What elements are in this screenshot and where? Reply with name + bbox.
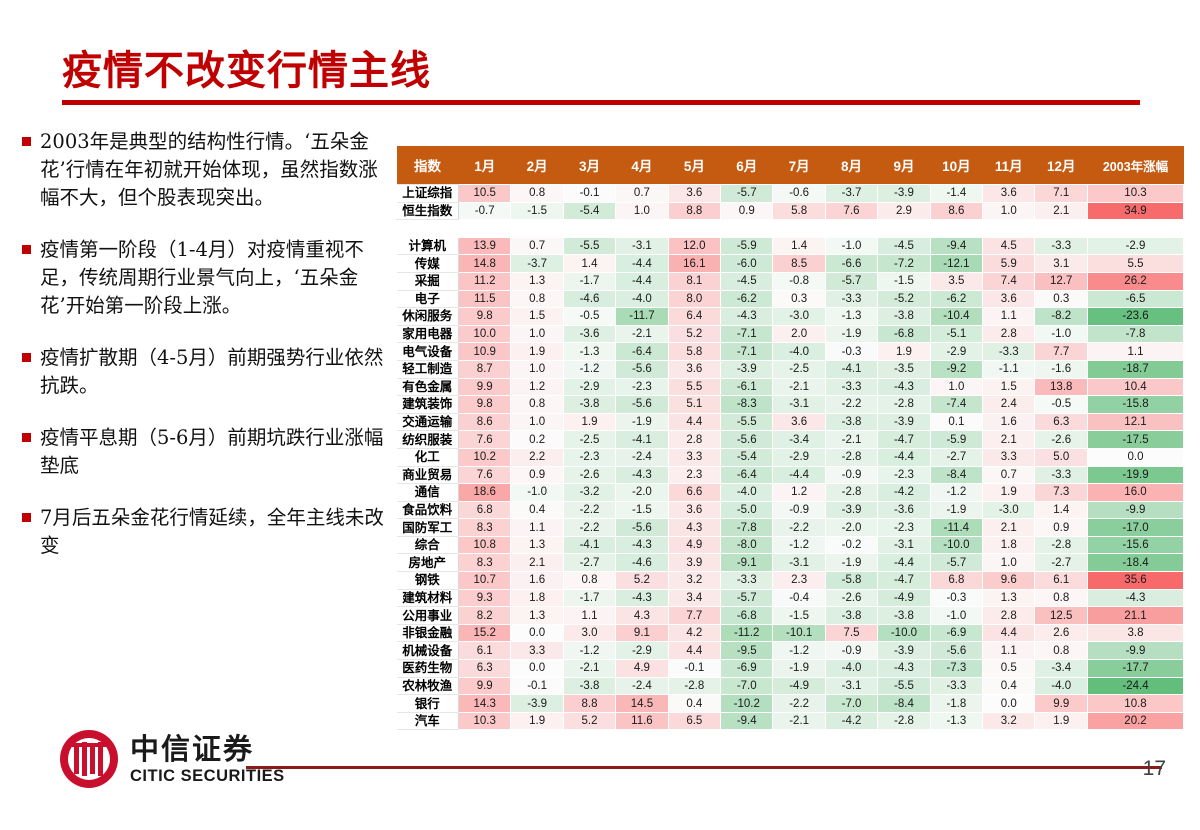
- bullet-text: 2003年是典型的结构性行情。‘五朵金花’行情在年初就开始体现，虽然指数涨幅不大…: [40, 128, 390, 212]
- data-cell: -3.9: [721, 360, 773, 378]
- row-label: 电子: [397, 290, 459, 308]
- data-cell: 8.6: [459, 413, 511, 431]
- data-cell: 6.1: [459, 642, 511, 660]
- data-cell: -3.3: [1035, 237, 1088, 255]
- data-cell: 0.9: [511, 466, 563, 484]
- data-cell: 2.3: [668, 466, 720, 484]
- row-label: 休闲服务: [397, 308, 459, 326]
- data-cell: 1.3: [983, 589, 1035, 607]
- row-label: 农林牧渔: [397, 677, 459, 695]
- data-cell: -4.4: [616, 255, 668, 273]
- data-cell: -3.6: [878, 501, 930, 519]
- data-cell: -1.0: [511, 484, 563, 502]
- column-header-4: 4月: [616, 146, 668, 185]
- row-label: 有色金属: [397, 378, 459, 396]
- data-cell: 1.6: [983, 413, 1035, 431]
- table-row: 商业贸易7.60.9-2.6-4.32.3-6.4-4.4-0.9-2.3-8.…: [397, 466, 1184, 484]
- data-cell: 8.8: [563, 695, 615, 713]
- data-cell: -5.5: [878, 677, 930, 695]
- data-cell: -4.3: [616, 466, 668, 484]
- data-cell: -1.0: [825, 237, 877, 255]
- data-cell: 11.2: [459, 272, 511, 290]
- data-cell: -0.3: [930, 589, 982, 607]
- table-row: 建筑装饰9.80.8-3.8-5.65.1-8.3-3.1-2.2-2.8-7.…: [397, 396, 1184, 414]
- row-label: 计算机: [397, 237, 459, 255]
- table-row: 非银金融15.20.03.09.14.2-11.2-10.17.5-10.0-6…: [397, 624, 1184, 642]
- table-row: 公用事业8.21.31.14.37.7-6.8-1.5-3.8-3.8-1.02…: [397, 607, 1184, 625]
- data-cell: -5.4: [721, 448, 773, 466]
- data-cell: 7.6: [825, 202, 877, 220]
- data-cell: 14.3: [459, 695, 511, 713]
- data-cell: -2.2: [773, 519, 825, 537]
- table-row: 轻工制造8.71.0-1.2-5.63.6-3.9-2.5-4.1-3.5-9.…: [397, 360, 1184, 378]
- data-cell: 1.2: [511, 378, 563, 396]
- column-header-10: 10月: [930, 146, 982, 185]
- data-cell: 1.9: [1035, 712, 1088, 730]
- table-row: 农林牧渔9.9-0.1-3.8-2.4-2.8-7.0-4.9-3.1-5.5-…: [397, 677, 1184, 695]
- data-cell: 9.9: [1035, 695, 1088, 713]
- data-cell: 8.5: [773, 255, 825, 273]
- data-cell: 1.9: [511, 343, 563, 361]
- data-cell: -2.4: [616, 448, 668, 466]
- data-cell: -9.2: [930, 360, 982, 378]
- data-cell: 12.0: [668, 237, 720, 255]
- data-cell: 8.1: [668, 272, 720, 290]
- data-cell: -3.3: [930, 677, 982, 695]
- data-cell: 9.9: [459, 677, 511, 695]
- data-cell: -4.2: [825, 712, 877, 730]
- data-cell: 3.6: [983, 290, 1035, 308]
- bullet-item: 疫情平息期（5-6月）前期坑跌行业涨幅垫底: [22, 424, 390, 480]
- data-cell: 1.8: [511, 589, 563, 607]
- data-cell: 9.8: [459, 396, 511, 414]
- row-label: 国防军工: [397, 519, 459, 537]
- table-row: 钢铁10.71.60.85.23.2-3.32.3-5.8-4.76.89.66…: [397, 572, 1184, 590]
- data-cell: -4.2: [878, 484, 930, 502]
- data-cell: -17.0: [1088, 519, 1184, 537]
- industry-monthly-return-table: 指数1月2月3月4月5月6月7月8月9月10月11月12月2003年涨幅 上证综…: [396, 146, 1184, 730]
- data-cell: 2.8: [668, 431, 720, 449]
- page-title: 疫情不改变行情主线: [62, 38, 431, 96]
- table-row: 汽车10.31.95.211.66.5-9.4-2.1-4.2-2.8-1.33…: [397, 712, 1184, 730]
- data-cell: -4.3: [616, 589, 668, 607]
- data-cell: 0.3: [773, 290, 825, 308]
- bullet-item: 2003年是典型的结构性行情。‘五朵金花’行情在年初就开始体现，虽然指数涨幅不大…: [22, 128, 390, 212]
- data-cell: -1.0: [930, 607, 982, 625]
- data-cell: 8.6: [930, 202, 982, 220]
- data-cell: -3.4: [1035, 660, 1088, 678]
- table-row: 纺织服装7.60.2-2.5-4.12.8-5.6-3.4-2.1-4.7-5.…: [397, 431, 1184, 449]
- data-cell: -9.9: [1088, 501, 1184, 519]
- data-cell: 1.0: [511, 413, 563, 431]
- data-cell: 1.4: [563, 255, 615, 273]
- bullet-square-icon: [22, 353, 31, 362]
- data-cell: 2.1: [983, 431, 1035, 449]
- data-cell: -1.2: [930, 484, 982, 502]
- column-header-5: 5月: [668, 146, 720, 185]
- data-cell: -3.9: [878, 185, 930, 203]
- data-cell: -7.2: [878, 255, 930, 273]
- data-cell: -5.7: [721, 185, 773, 203]
- data-cell: 20.2: [1088, 712, 1184, 730]
- data-cell: 7.1: [1035, 185, 1088, 203]
- data-cell: 7.3: [1035, 484, 1088, 502]
- data-cell: 4.9: [668, 536, 720, 554]
- data-cell: -6.2: [721, 290, 773, 308]
- data-cell: -8.4: [878, 695, 930, 713]
- data-cell: 3.3: [983, 448, 1035, 466]
- data-cell: 10.7: [459, 572, 511, 590]
- bullet-text: 疫情第一阶段（1-4月）对疫情重视不足，传统周期行业景气向上，‘五朵金花’开始第…: [40, 236, 390, 320]
- data-cell: 4.2: [668, 624, 720, 642]
- data-cell: 0.4: [511, 501, 563, 519]
- data-cell: 9.6: [983, 572, 1035, 590]
- column-header-9: 9月: [878, 146, 930, 185]
- table-row: 计算机13.90.7-5.5-3.112.0-5.91.4-1.0-4.5-9.…: [397, 237, 1184, 255]
- data-cell: -1.2: [563, 642, 615, 660]
- data-cell: 0.7: [616, 185, 668, 203]
- data-cell: -12.1: [930, 255, 982, 273]
- data-cell: -4.1: [563, 536, 615, 554]
- data-cell: -0.9: [773, 501, 825, 519]
- data-cell: 1.0: [511, 360, 563, 378]
- data-cell: 3.3: [511, 642, 563, 660]
- data-cell: 7.7: [668, 607, 720, 625]
- data-cell: 3.6: [668, 501, 720, 519]
- data-cell: 1.9: [878, 343, 930, 361]
- data-cell: 8.7: [459, 360, 511, 378]
- data-cell: 0.0: [1088, 448, 1184, 466]
- table-row: 综合10.81.3-4.1-4.34.9-8.0-1.2-0.2-3.1-10.…: [397, 536, 1184, 554]
- data-cell: -3.3: [825, 290, 877, 308]
- heatmap-table-container: 指数1月2月3月4月5月6月7月8月9月10月11月12月2003年涨幅 上证综…: [396, 146, 1184, 730]
- data-cell: 7.6: [459, 431, 511, 449]
- data-cell: 3.4: [668, 589, 720, 607]
- data-cell: -1.5: [773, 607, 825, 625]
- column-header-8: 8月: [825, 146, 877, 185]
- data-cell: -3.2: [563, 484, 615, 502]
- row-label: 采掘: [397, 272, 459, 290]
- data-cell: 3.6: [668, 185, 720, 203]
- data-cell: 2.8: [983, 607, 1035, 625]
- data-cell: 10.9: [459, 343, 511, 361]
- data-cell: -4.6: [563, 290, 615, 308]
- data-cell: 4.4: [983, 624, 1035, 642]
- bullet-list: 2003年是典型的结构性行情。‘五朵金花’行情在年初就开始体现，虽然指数涨幅不大…: [22, 128, 390, 584]
- data-cell: -2.1: [616, 325, 668, 343]
- data-cell: -2.9: [1088, 237, 1184, 255]
- row-label: 电气设备: [397, 343, 459, 361]
- data-cell: 5.2: [563, 712, 615, 730]
- data-cell: -17.7: [1088, 660, 1184, 678]
- data-cell: 0.8: [511, 396, 563, 414]
- data-cell: -5.7: [721, 589, 773, 607]
- data-cell: -3.0: [773, 308, 825, 326]
- data-cell: 11.5: [459, 290, 511, 308]
- logo-chinese-name: 中信证券: [130, 733, 285, 766]
- column-header-3: 3月: [563, 146, 615, 185]
- data-cell: -10.0: [878, 624, 930, 642]
- data-cell: -2.2: [563, 519, 615, 537]
- data-cell: -1.5: [616, 501, 668, 519]
- data-cell: -3.7: [825, 185, 877, 203]
- table-row: 机械设备6.13.3-1.2-2.94.4-9.5-1.2-0.9-3.9-5.…: [397, 642, 1184, 660]
- bullet-text: 疫情平息期（5-6月）前期坑跌行业涨幅垫底: [40, 424, 390, 480]
- data-cell: 10.5: [459, 185, 511, 203]
- data-cell: 1.3: [511, 536, 563, 554]
- data-cell: 1.0: [930, 378, 982, 396]
- data-cell: -2.7: [930, 448, 982, 466]
- data-cell: 1.2: [773, 484, 825, 502]
- row-label: 公用事业: [397, 607, 459, 625]
- row-label: 房地产: [397, 554, 459, 572]
- data-cell: 14.5: [616, 695, 668, 713]
- table-row: 医药生物6.30.0-2.14.9-0.1-6.9-1.9-4.0-4.3-7.…: [397, 660, 1184, 678]
- data-cell: 3.3: [668, 448, 720, 466]
- data-cell: 2.3: [773, 572, 825, 590]
- row-label: 化工: [397, 448, 459, 466]
- data-cell: 6.6: [668, 484, 720, 502]
- data-cell: 7.5: [825, 624, 877, 642]
- table-row: 通信18.6-1.0-3.2-2.06.6-4.01.2-2.8-4.2-1.2…: [397, 484, 1184, 502]
- data-cell: -0.5: [563, 308, 615, 326]
- data-cell: 6.3: [1035, 413, 1088, 431]
- data-cell: 4.4: [668, 413, 720, 431]
- data-cell: -5.0: [721, 501, 773, 519]
- data-cell: 1.3: [511, 272, 563, 290]
- column-header-1: 1月: [459, 146, 511, 185]
- logo-pillar: [74, 747, 79, 774]
- data-cell: -1.9: [616, 413, 668, 431]
- data-cell: -1.9: [825, 554, 877, 572]
- title-divider: [62, 100, 1140, 105]
- data-cell: 1.1: [563, 607, 615, 625]
- data-cell: -4.6: [616, 554, 668, 572]
- data-cell: 9.8: [459, 308, 511, 326]
- data-cell: -4.1: [616, 431, 668, 449]
- logo-pillar: [82, 742, 87, 776]
- row-label: 家用电器: [397, 325, 459, 343]
- data-cell: -8.0: [721, 536, 773, 554]
- row-label: 恒生指数: [397, 202, 459, 220]
- table-row: 银行14.3-3.98.814.50.4-10.2-2.2-7.0-8.4-1.…: [397, 695, 1184, 713]
- data-cell: -0.1: [511, 677, 563, 695]
- data-cell: -0.6: [773, 185, 825, 203]
- data-cell: 2.1: [511, 554, 563, 572]
- data-cell: 16.0: [1088, 484, 1184, 502]
- data-cell: -2.2: [825, 396, 877, 414]
- citic-logo-mark: [60, 730, 118, 788]
- data-cell: -18.7: [1088, 360, 1184, 378]
- data-cell: -2.2: [773, 695, 825, 713]
- data-cell: 9.1: [616, 624, 668, 642]
- data-cell: 5.8: [668, 343, 720, 361]
- data-cell: 4.5: [983, 237, 1035, 255]
- data-cell: 0.8: [511, 290, 563, 308]
- data-cell: 26.2: [1088, 272, 1184, 290]
- data-cell: 1.9: [563, 413, 615, 431]
- data-cell: 3.6: [668, 360, 720, 378]
- data-cell: -0.3: [825, 343, 877, 361]
- data-cell: -2.6: [825, 589, 877, 607]
- data-cell: -4.3: [616, 536, 668, 554]
- data-cell: 6.3: [459, 660, 511, 678]
- data-cell: 5.0: [1035, 448, 1088, 466]
- table-row: 上证综指10.50.8-0.10.73.6-5.7-0.6-3.7-3.9-1.…: [397, 185, 1184, 203]
- data-cell: -7.1: [721, 325, 773, 343]
- row-label: 商业贸易: [397, 466, 459, 484]
- data-cell: -1.9: [825, 325, 877, 343]
- data-cell: -5.6: [930, 642, 982, 660]
- data-cell: -2.7: [1035, 554, 1088, 572]
- data-cell: -6.0: [721, 255, 773, 273]
- data-cell: 0.8: [1035, 642, 1088, 660]
- data-cell: -6.6: [825, 255, 877, 273]
- data-cell: -2.4: [616, 677, 668, 695]
- citic-securities-logo: 中信证券 CITIC SECURITIES: [60, 730, 285, 788]
- data-cell: -4.3: [1088, 589, 1184, 607]
- logo-pillar: [98, 742, 103, 776]
- data-cell: 10.8: [459, 536, 511, 554]
- data-cell: -0.7: [459, 202, 511, 220]
- data-cell: -3.3: [1035, 466, 1088, 484]
- data-cell: -1.8: [930, 695, 982, 713]
- data-cell: 5.2: [616, 572, 668, 590]
- data-cell: 0.0: [983, 695, 1035, 713]
- bullet-item: 疫情第一阶段（1-4月）对疫情重视不足，传统周期行业景气向上，‘五朵金花’开始第…: [22, 236, 390, 320]
- data-cell: 35.6: [1088, 572, 1184, 590]
- data-cell: 3.6: [983, 185, 1035, 203]
- data-cell: -4.0: [1035, 677, 1088, 695]
- table-row: 恒生指数-0.7-1.5-5.41.08.80.95.87.62.98.61.0…: [397, 202, 1184, 220]
- data-cell: 11.6: [616, 712, 668, 730]
- data-cell: 4.3: [668, 519, 720, 537]
- data-cell: 7.4: [983, 272, 1035, 290]
- data-cell: 1.0: [511, 325, 563, 343]
- data-cell: -11.4: [930, 519, 982, 537]
- bullet-square-icon: [22, 137, 31, 146]
- data-cell: -2.0: [825, 519, 877, 537]
- row-label: 通信: [397, 484, 459, 502]
- data-cell: -2.9: [563, 378, 615, 396]
- row-label: 食品饮料: [397, 501, 459, 519]
- data-cell: 1.5: [983, 378, 1035, 396]
- data-cell: -5.5: [721, 413, 773, 431]
- data-cell: 5.1: [668, 396, 720, 414]
- data-cell: 2.2: [511, 448, 563, 466]
- bullet-square-icon: [22, 245, 31, 254]
- data-cell: 1.1: [983, 642, 1035, 660]
- data-cell: 6.1: [1035, 572, 1088, 590]
- data-cell: -1.2: [773, 642, 825, 660]
- data-cell: 34.9: [1088, 202, 1184, 220]
- data-cell: 3.2: [668, 572, 720, 590]
- row-label: 机械设备: [397, 642, 459, 660]
- data-cell: -2.8: [878, 712, 930, 730]
- table-header: 指数1月2月3月4月5月6月7月8月9月10月11月12月2003年涨幅: [397, 146, 1184, 185]
- data-cell: 0.8: [1035, 589, 1088, 607]
- data-cell: -9.4: [721, 712, 773, 730]
- data-cell: -3.0: [983, 501, 1035, 519]
- data-cell: -7.3: [930, 660, 982, 678]
- bullet-square-icon: [22, 433, 31, 442]
- data-cell: 14.8: [459, 255, 511, 273]
- data-cell: -3.9: [878, 642, 930, 660]
- data-cell: -1.3: [825, 308, 877, 326]
- data-cell: -4.9: [773, 677, 825, 695]
- data-cell: -7.8: [1088, 325, 1184, 343]
- data-cell: -1.2: [563, 360, 615, 378]
- data-cell: -0.4: [773, 589, 825, 607]
- table-group-spacer: [397, 220, 1184, 238]
- data-cell: -2.9: [773, 448, 825, 466]
- data-cell: -6.8: [878, 325, 930, 343]
- data-cell: -6.4: [721, 466, 773, 484]
- data-cell: 6.4: [668, 308, 720, 326]
- data-cell: -5.5: [563, 237, 615, 255]
- data-cell: 10.2: [459, 448, 511, 466]
- data-cell: -5.9: [721, 237, 773, 255]
- data-cell: -4.7: [878, 572, 930, 590]
- data-cell: -3.8: [878, 607, 930, 625]
- data-cell: -0.1: [668, 660, 720, 678]
- table-row: 交通运输8.61.01.9-1.94.4-5.53.6-3.8-3.90.11.…: [397, 413, 1184, 431]
- data-cell: 2.0: [773, 325, 825, 343]
- data-cell: -3.8: [563, 677, 615, 695]
- row-label: 非银金融: [397, 624, 459, 642]
- data-cell: -2.1: [563, 660, 615, 678]
- data-cell: 0.4: [983, 677, 1035, 695]
- data-cell: 5.5: [1088, 255, 1184, 273]
- data-cell: -3.9: [511, 695, 563, 713]
- data-cell: -7.0: [721, 677, 773, 695]
- data-cell: -3.8: [563, 396, 615, 414]
- data-cell: -3.3: [825, 378, 877, 396]
- data-cell: -1.3: [930, 712, 982, 730]
- row-label: 传媒: [397, 255, 459, 273]
- data-cell: 3.6: [773, 413, 825, 431]
- data-cell: -0.8: [773, 272, 825, 290]
- data-cell: 6.8: [459, 501, 511, 519]
- data-cell: 8.2: [459, 607, 511, 625]
- data-cell: -4.5: [878, 237, 930, 255]
- data-cell: 0.8: [511, 185, 563, 203]
- data-cell: -6.1: [721, 378, 773, 396]
- data-cell: -6.2: [930, 290, 982, 308]
- data-cell: -6.9: [930, 624, 982, 642]
- data-cell: 2.1: [983, 519, 1035, 537]
- data-cell: 0.4: [668, 695, 720, 713]
- data-cell: -3.9: [878, 413, 930, 431]
- data-cell: -1.9: [930, 501, 982, 519]
- data-cell: 6.8: [930, 572, 982, 590]
- data-cell: 10.8: [1088, 695, 1184, 713]
- data-cell: -2.8: [825, 484, 877, 502]
- data-cell: -2.3: [563, 448, 615, 466]
- page-number: 17: [1143, 757, 1166, 781]
- data-cell: 18.6: [459, 484, 511, 502]
- table-row: 建筑材料9.31.8-1.7-4.33.4-5.7-0.4-2.6-4.9-0.…: [397, 589, 1184, 607]
- data-cell: -6.8: [721, 607, 773, 625]
- data-cell: -5.8: [825, 572, 877, 590]
- data-cell: -4.4: [616, 272, 668, 290]
- data-cell: -4.3: [878, 660, 930, 678]
- data-cell: 0.7: [511, 237, 563, 255]
- data-cell: -6.4: [616, 343, 668, 361]
- data-cell: -3.8: [878, 308, 930, 326]
- data-cell: -2.8: [825, 448, 877, 466]
- data-cell: -8.4: [930, 466, 982, 484]
